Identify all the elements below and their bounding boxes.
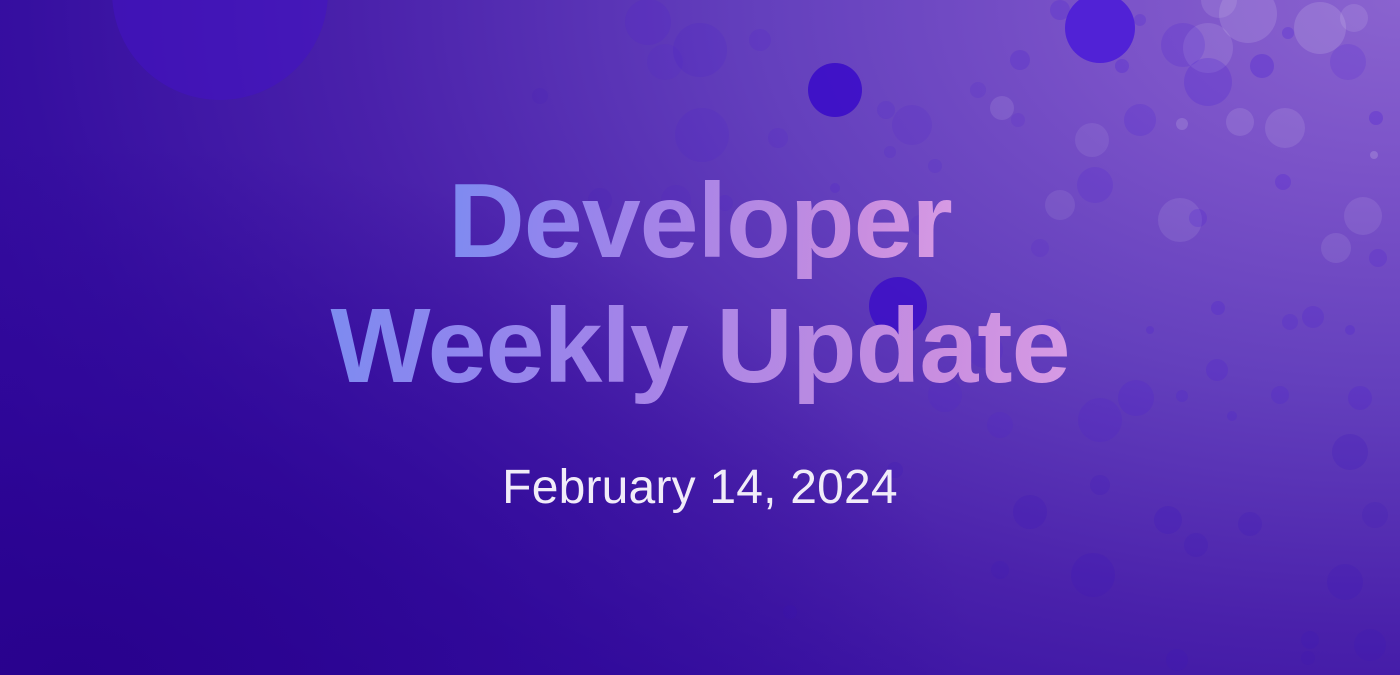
issue-date: February 14, 2024 (502, 460, 898, 515)
page-title-line-2: Weekly Update (330, 285, 1069, 408)
page-title-line-1: Developer (448, 160, 952, 283)
developer-weekly-update-banner: Developer Weekly Update February 14, 202… (0, 0, 1400, 675)
banner-content: Developer Weekly Update February 14, 202… (0, 0, 1400, 675)
